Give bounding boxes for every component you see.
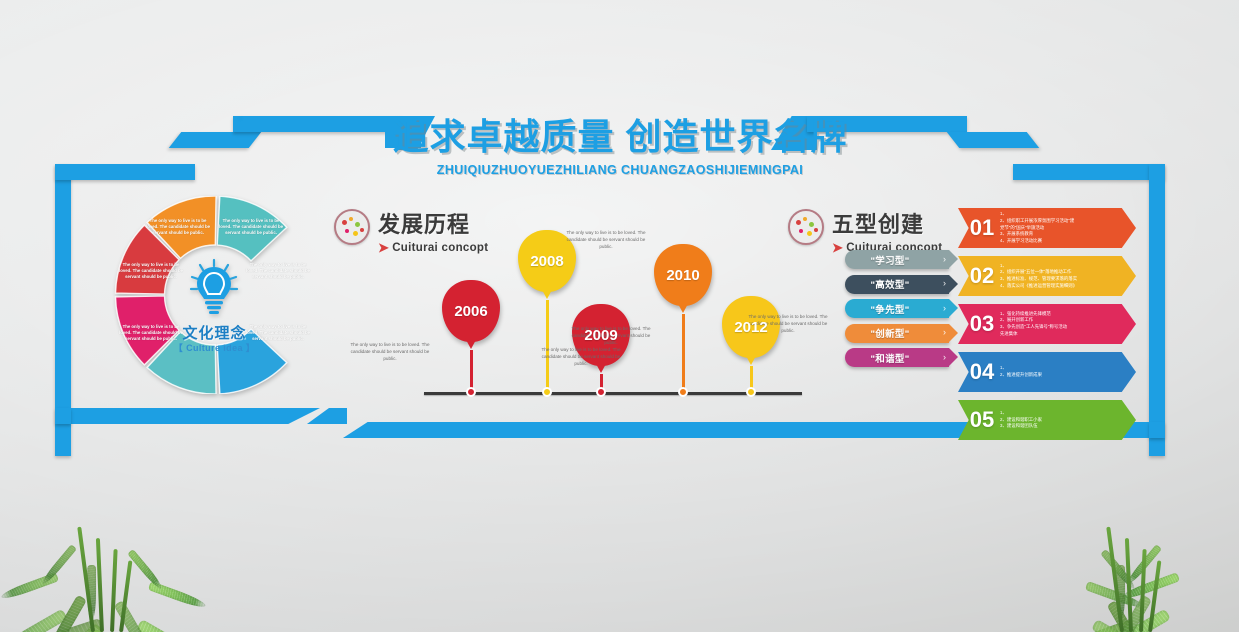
- five-type-button-list: "学习型" › "高效型" › "争先型" › "创新型" › "和谐型" ›: [845, 250, 949, 373]
- balloon-2010[interactable]: 2010: [654, 244, 712, 306]
- balloon-stem: [470, 350, 473, 392]
- palm-plant-left: [0, 472, 220, 632]
- chevron-right-icon: ›: [943, 278, 946, 288]
- palm-frond: [1116, 565, 1125, 621]
- palm-stem: [110, 549, 118, 632]
- milestone-year: 2009: [584, 327, 617, 344]
- title-main-cn: 追求卓越质量 创造世界名牌: [380, 108, 860, 160]
- palm-stem: [1139, 549, 1147, 632]
- arrow-text-lines: 1、2、推进提升创新成果: [1000, 365, 1136, 378]
- balloon-stem: [546, 300, 549, 392]
- arrow-item-03[interactable]: 03 1、强化持续推进先锋模范2、展开创新工作3、争先创造"工人先锋号"称号活动…: [958, 304, 1136, 344]
- palm-frond: [148, 581, 207, 610]
- culture-segment-text: The only way to live is to be loved. The…: [145, 218, 211, 237]
- double-arrow-icon: ➤: [378, 240, 389, 256]
- palm-frond: [1106, 600, 1150, 632]
- palm-frond: [1125, 544, 1162, 586]
- palm-stem: [1106, 527, 1124, 632]
- type-button-gaoxiaoxing[interactable]: "高效型" ›: [845, 275, 949, 294]
- arrow-text-lines: 1、2、建设和谐职工小家3、建设和谐团队伍: [1000, 410, 1136, 430]
- double-arrow-icon: ➤: [832, 240, 843, 256]
- type-button-hexiexing[interactable]: "和谐型" ›: [845, 348, 949, 367]
- arrow-number: 01: [958, 215, 1000, 241]
- balloon-stem: [682, 314, 685, 392]
- palm-frond: [0, 572, 59, 601]
- palm-frond: [1061, 622, 1134, 632]
- palm-frond: [114, 600, 158, 632]
- palm-frond: [31, 622, 105, 632]
- palm-frond: [41, 544, 78, 586]
- palm-frond: [1098, 609, 1171, 632]
- palm-frond: [43, 595, 87, 632]
- palm-frond: [1121, 572, 1180, 601]
- palm-frond: [1085, 581, 1144, 610]
- numbered-arrow-panel: 01 1、2、组织职工开展浓厚氛围学习活动"建 党节"的"国庆"举旗活动3、开展…: [958, 208, 1136, 448]
- palm-frond: [67, 628, 105, 632]
- palm-frond: [1091, 619, 1164, 632]
- title-pinyin: ZHUIQIUZHUOYUEZHILIANG CHUANGZAOSHIJIEMI…: [380, 163, 860, 177]
- milestone-note: The only way to live is to be loved. The…: [346, 342, 434, 363]
- type-button-zhengxianxing[interactable]: "争先型" ›: [845, 299, 949, 318]
- culture-segment-text: The only way to live is to be loved. The…: [118, 324, 184, 343]
- culture-segment-text: The only way to live is to be loved. The…: [245, 262, 311, 281]
- palm-stem: [1148, 560, 1161, 632]
- palm-plant-right: [1019, 472, 1239, 632]
- confetti-icon: [788, 209, 824, 245]
- type-button-label: "争先型": [870, 302, 909, 316]
- arrow-number: 05: [958, 407, 1000, 433]
- confetti-icon: [334, 209, 370, 245]
- milestone-note: The only way to live is to be loved. The…: [537, 347, 625, 368]
- timeline-milestone[interactable]: 2006: [442, 280, 500, 342]
- arrow-item-04[interactable]: 04 1、2、推进提升创新成果: [958, 352, 1136, 392]
- timeline-milestone[interactable]: 2010: [654, 244, 712, 306]
- milestone-note: The only way to live is to be loved. The…: [562, 230, 650, 251]
- palm-frond: [0, 609, 68, 632]
- balloon-2006[interactable]: 2006: [442, 280, 500, 342]
- palm-stem: [96, 538, 104, 632]
- section-title-cn: 五型创建: [832, 207, 942, 239]
- palm-stem: [119, 560, 132, 632]
- chevron-right-icon: ›: [943, 303, 946, 313]
- arrow-item-02[interactable]: 02 1、2、组织开展"五位一体"落地推动工作3、推进标准、规范、管理要求落的落…: [958, 256, 1136, 296]
- type-button-label: "创新型": [870, 326, 909, 340]
- chevron-right-icon: ›: [943, 254, 946, 264]
- type-button-chuangxinxing[interactable]: "创新型" ›: [845, 324, 949, 343]
- arrow-item-01[interactable]: 01 1、2、组织职工开展浓厚氛围学习活动"建 党节"的"国庆"举旗活动3、开展…: [958, 208, 1136, 248]
- arrow-text-lines: 1、2、组织开展"五位一体"落地推动工作3、推进标准、规范、管理要求落的落实4、…: [1000, 263, 1136, 290]
- chevron-right-icon: ›: [943, 327, 946, 337]
- timeline-dot: [542, 387, 552, 397]
- arrow-number: 02: [958, 263, 1000, 289]
- culture-circle: 文化理念 【 Culture idea 】 The only way to li…: [112, 196, 317, 394]
- history-timeline: 2006 The only way to live is to be loved…: [412, 222, 812, 402]
- arrow-item-05[interactable]: 05 1、2、建设和谐职工小家3、建设和谐团队伍: [958, 400, 1136, 440]
- palm-stem: [77, 527, 95, 632]
- type-button-label: "和谐型": [870, 351, 909, 365]
- palm-stem: [1125, 538, 1133, 632]
- timeline-dot: [466, 387, 476, 397]
- chevron-right-icon: ›: [943, 352, 946, 362]
- lightbulb-icon: [188, 258, 240, 316]
- palm-frond: [127, 549, 164, 591]
- palm-frond: [9, 618, 105, 632]
- timeline-dot: [596, 387, 606, 397]
- palm-frond: [136, 619, 209, 632]
- palm-frond: [87, 565, 96, 621]
- milestone-year: 2006: [454, 303, 487, 320]
- milestone-year: 2012: [734, 319, 767, 336]
- palm-frond: [1108, 595, 1152, 632]
- timeline-dot: [746, 387, 756, 397]
- arrow-text-lines: 1、强化持续推进先锋模范2、展开创新工作3、争先创造"工人先锋号"称号活动 先进…: [1000, 311, 1136, 338]
- section-header-fivetype: 五型创建 ➤ Cuiturai concopt: [788, 206, 942, 256]
- milestone-year: 2008: [530, 253, 563, 270]
- timeline-dot: [678, 387, 688, 397]
- culture-segment-text: The only way to live is to be loved. The…: [245, 324, 311, 343]
- arrow-number: 04: [958, 359, 1000, 385]
- culture-segment-text: The only way to live is to be loved. The…: [118, 262, 184, 281]
- page-title: 追求卓越质量 创造世界名牌 ZHUIQIUZHUOYUEZHILIANG CHU…: [380, 108, 860, 177]
- type-button-label: "高效型": [870, 277, 909, 291]
- palm-frond: [1101, 549, 1138, 591]
- arrow-number: 03: [958, 311, 1000, 337]
- culture-segment-text: The only way to live is to be loved. The…: [218, 218, 284, 237]
- culture-center-subtitle: 【 Culture idea 】: [122, 341, 307, 354]
- milestone-year: 2010: [666, 267, 699, 284]
- arrow-text-lines: 1、2、组织职工开展浓厚氛围学习活动"建 党节"的"国庆"举旗活动3、开展系统教…: [1000, 211, 1136, 244]
- type-button-xuexixing[interactable]: "学习型" ›: [845, 250, 949, 269]
- type-button-label: "学习型": [870, 253, 909, 267]
- palm-frond: [1048, 619, 1134, 632]
